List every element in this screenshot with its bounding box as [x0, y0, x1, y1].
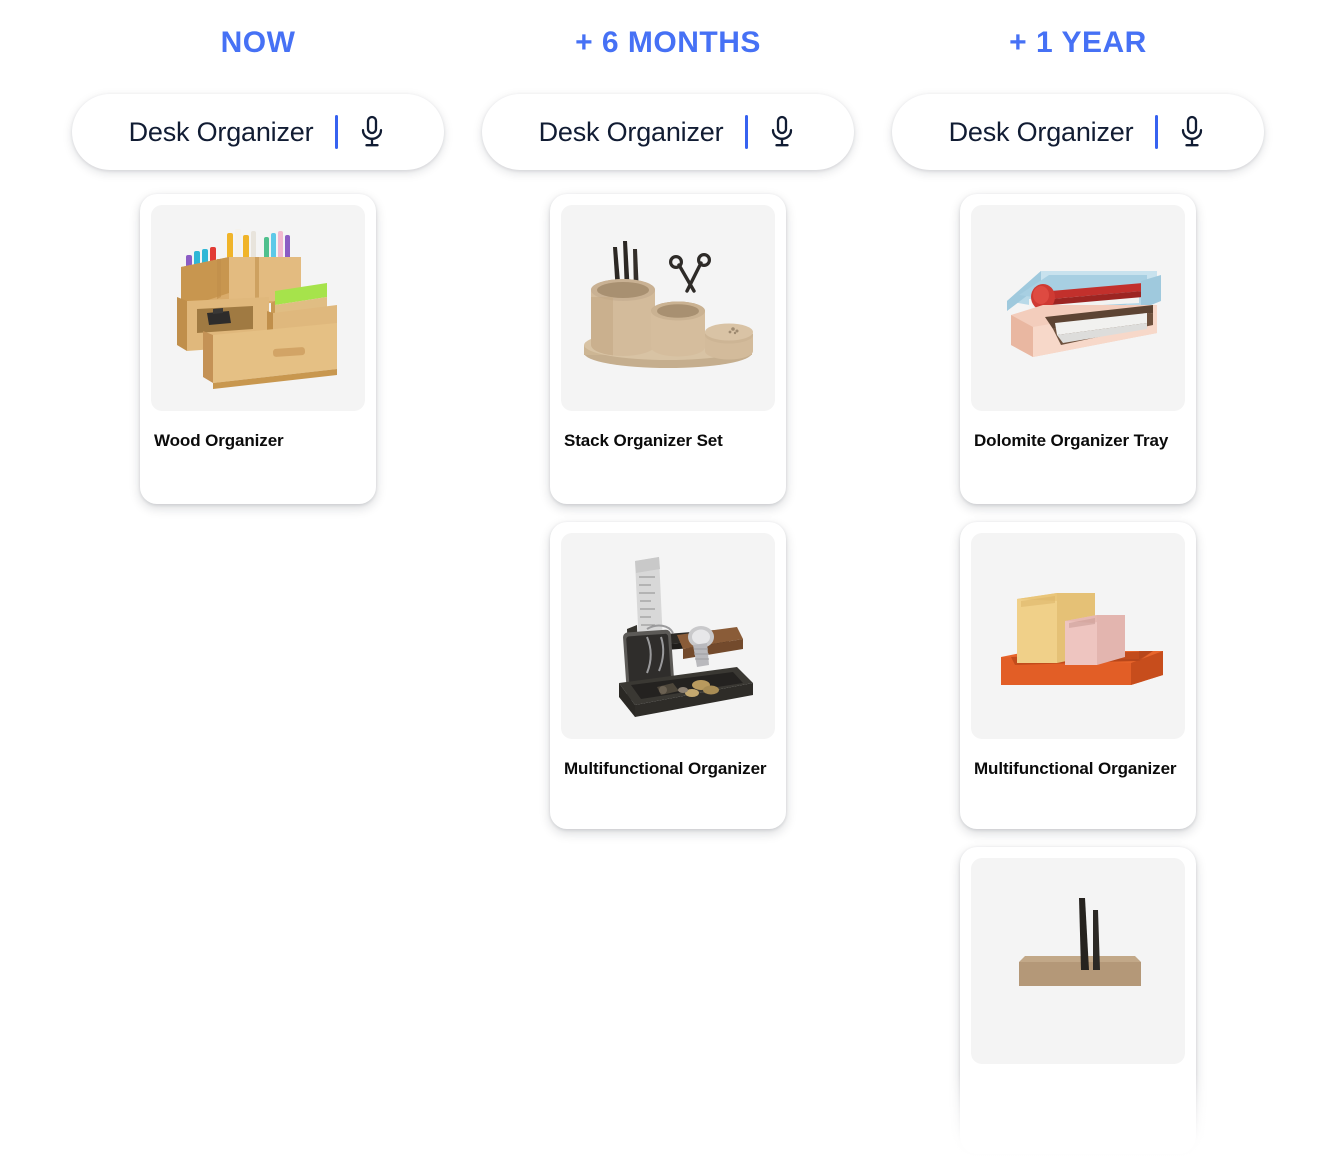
- product-image-partially-visible: [971, 858, 1185, 1064]
- search-input-now[interactable]: Desk Organizer: [129, 117, 314, 148]
- column-heading-now: NOW: [221, 28, 296, 58]
- product-card[interactable]: Dolomite Organizer Tray: [960, 194, 1196, 504]
- microphone-icon[interactable]: [767, 115, 797, 149]
- product-list-now: Wood Organizer: [140, 194, 376, 504]
- product-title: Multifunctional Organizer: [971, 757, 1185, 780]
- search-input-1-year[interactable]: Desk Organizer: [949, 117, 1134, 148]
- timeline-column-6-months: + 6 MONTHS Desk Organizer: [463, 0, 873, 829]
- product-card[interactable]: Stack Organizer Set: [550, 194, 786, 504]
- search-divider: [335, 115, 338, 149]
- timeline-column-1-year: + 1 YEAR Desk Organizer: [873, 0, 1283, 1154]
- search-divider: [1155, 115, 1158, 149]
- product-title: Stack Organizer Set: [561, 429, 775, 452]
- product-list-6-months: Stack Organizer Set: [550, 194, 786, 829]
- column-heading-6-months: + 6 MONTHS: [575, 28, 761, 58]
- product-title: Multifunctional Organizer: [561, 757, 775, 780]
- product-image-stack-organizer-set: [561, 205, 775, 411]
- search-input-6-months[interactable]: Desk Organizer: [539, 117, 724, 148]
- search-pill-6-months[interactable]: Desk Organizer: [482, 94, 854, 170]
- search-divider: [745, 115, 748, 149]
- product-list-1-year: Dolomite Organizer Tray: [960, 194, 1196, 1154]
- product-card[interactable]: Multifunctional Organizer: [550, 522, 786, 829]
- bottom-fade-overlay: [948, 1074, 1208, 1160]
- column-heading-1-year: + 1 YEAR: [1009, 28, 1147, 58]
- timeline-board: NOW Desk Organizer: [0, 0, 1344, 1008]
- microphone-icon[interactable]: [1177, 115, 1207, 149]
- product-image-wood-organizer: [151, 205, 365, 411]
- product-title: Wood Organizer: [151, 429, 365, 452]
- product-image-multifunctional-organizer-orange: [971, 533, 1185, 739]
- product-title: Dolomite Organizer Tray: [971, 429, 1185, 452]
- product-card[interactable]: Wood Organizer: [140, 194, 376, 504]
- microphone-icon[interactable]: [357, 115, 387, 149]
- product-image-dolomite-organizer-tray: [971, 205, 1185, 411]
- product-card[interactable]: Multifunctional Organizer: [960, 522, 1196, 829]
- timeline-column-now: NOW Desk Organizer: [53, 0, 463, 504]
- product-image-multifunctional-organizer: [561, 533, 775, 739]
- product-card[interactable]: [960, 847, 1196, 1154]
- search-pill-1-year[interactable]: Desk Organizer: [892, 94, 1264, 170]
- search-pill-now[interactable]: Desk Organizer: [72, 94, 444, 170]
